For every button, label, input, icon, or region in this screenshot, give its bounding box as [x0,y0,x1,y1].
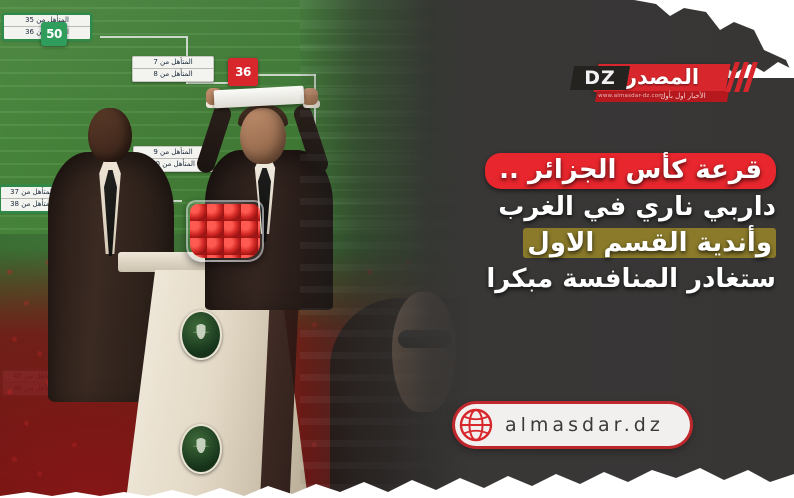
headline: قرعة كأس الجزائر .. داربي ناري في الغرب … [366,152,776,297]
news-card: المتأهل من 35 المتأهل من 36 المتأهل من 7… [0,0,794,498]
headline-highlight: وأندية القسم الاول [523,228,776,258]
headline-line-3: وأندية القسم الاول [366,225,776,261]
logo-dz-plate: DZ [570,66,630,90]
headline-pill: قرعة كأس الجزائر .. [485,153,776,189]
headline-line-1: قرعة كأس الجزائر .. [366,152,776,189]
logo-dz-text: DZ [572,66,628,90]
site-logo[interactable]: المصدر DZ الأخبار اول بأول www.almasdar-… [566,58,756,108]
site-url-text: almasdar.dz [505,414,664,436]
headline-line-4: ستغادر المنافسة مبكرا [366,261,776,297]
globe-icon [459,408,493,442]
site-url-badge[interactable]: almasdar.dz [455,404,690,446]
headline-line-2: داربي ناري في الغرب [366,189,776,225]
logo-website-small: www.almasdar-dz.com [596,90,666,102]
